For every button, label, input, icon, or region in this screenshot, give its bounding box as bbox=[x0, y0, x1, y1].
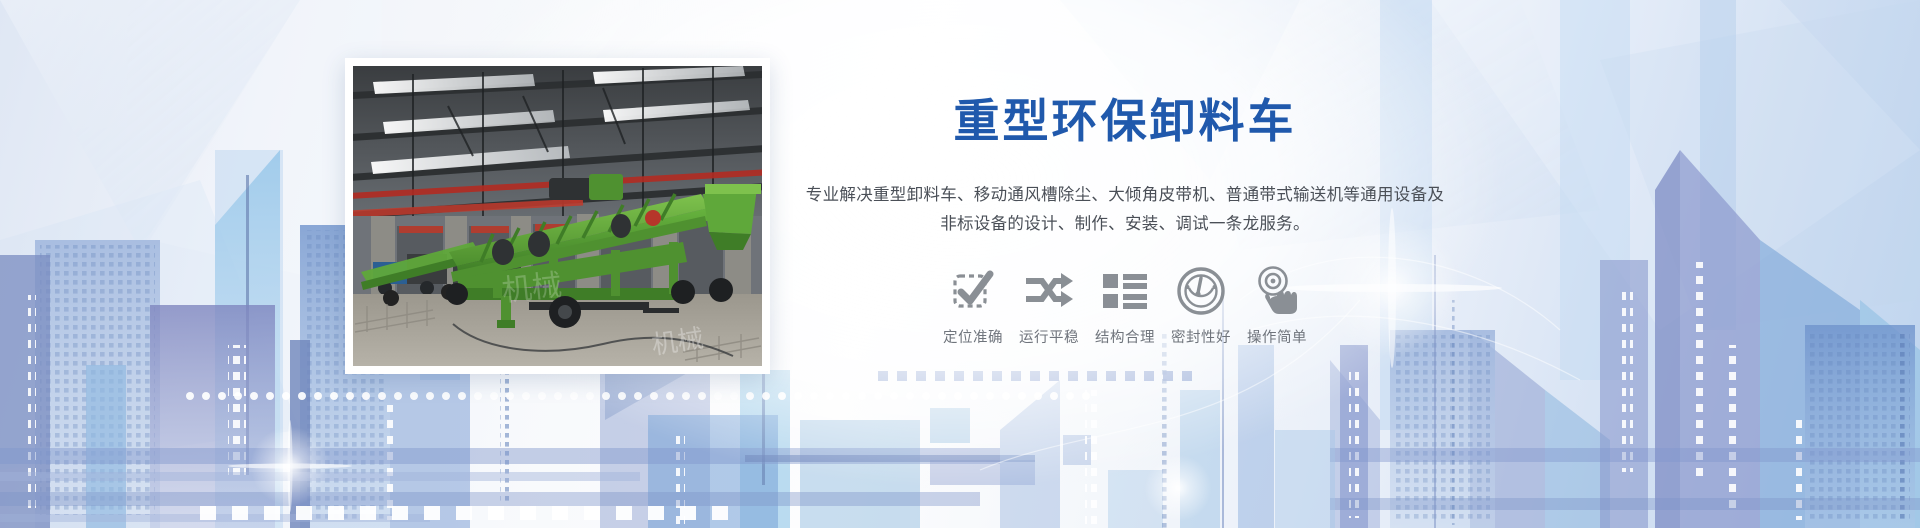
product-photo-card: 机械 机械 bbox=[345, 58, 770, 374]
hero-banner: 机械 机械 重型环保卸料车 专业解决重型卸料车、移动通风槽除尘、大倾角皮带机、普… bbox=[0, 0, 1920, 528]
feature-label: 密封性好 bbox=[1171, 326, 1231, 347]
feature-item-easy-operation[interactable]: 操作简单 bbox=[1239, 265, 1315, 347]
feature-label: 运行平稳 bbox=[1019, 326, 1079, 347]
product-photo: 机械 机械 bbox=[353, 66, 762, 366]
hand-touch-icon bbox=[1253, 265, 1301, 317]
feature-label: 结构合理 bbox=[1095, 326, 1155, 347]
feature-item-structure[interactable]: 结构合理 bbox=[1087, 265, 1163, 347]
feature-item-smooth-operation[interactable]: 运行平稳 bbox=[1011, 265, 1087, 347]
feature-item-positioning[interactable]: 定位准确 bbox=[935, 265, 1011, 347]
feature-item-sealing[interactable]: 密封性好 bbox=[1163, 265, 1239, 347]
page-title: 重型环保卸料车 bbox=[805, 96, 1445, 147]
feature-label: 操作简单 bbox=[1247, 326, 1307, 347]
feature-label: 定位准确 bbox=[943, 326, 1003, 347]
gauge-circle-icon bbox=[1176, 265, 1226, 317]
checkbox-check-icon bbox=[949, 265, 997, 317]
banner-content: 重型环保卸料车 专业解决重型卸料车、移动通风槽除尘、大倾角皮带机、普通带式输送机… bbox=[805, 96, 1445, 347]
banner-description: 专业解决重型卸料车、移动通风槽除尘、大倾角皮带机、普通带式输送机等通用设备及非标… bbox=[805, 181, 1445, 240]
shuffle-arrows-icon bbox=[1025, 265, 1073, 317]
svg-text:机械: 机械 bbox=[500, 269, 563, 308]
feature-list: 定位准确 运行平稳 bbox=[805, 265, 1445, 347]
list-blocks-icon bbox=[1101, 265, 1149, 317]
